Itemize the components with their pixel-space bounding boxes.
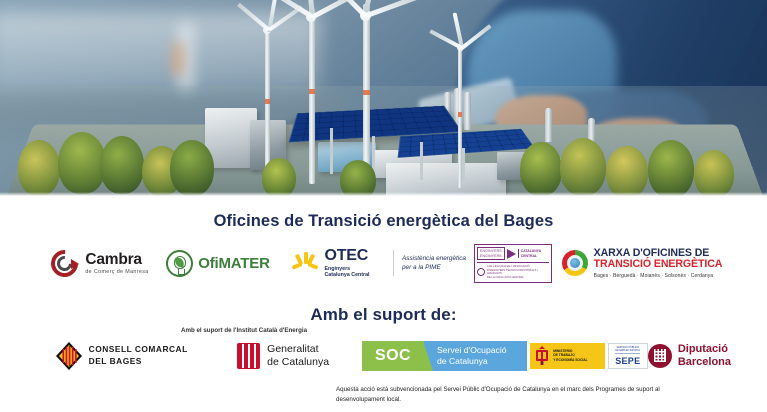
hero-stack-4: [545, 108, 552, 142]
logo-cambra[interactable]: Cambra de Comerç de Manresa: [41, 250, 159, 277]
otec-line1: Enginyers: [324, 266, 369, 273]
ofimater-name: OfiMATER: [198, 255, 269, 272]
logo-xarxa-oficines[interactable]: XARXA D'OFICINES DE TRANSICIÓ ENERGÈTICA…: [558, 248, 726, 279]
xarxa-line2: TRANSICIÓ ENERGÈTICA: [594, 259, 723, 270]
cambra-c-icon: [51, 250, 78, 277]
page-root: Oficines de Transició energètica del Bag…: [0, 0, 767, 412]
ministerio-text: MINISTERIO DE TRABAJO Y ECONOMÍA SOCIAL: [553, 349, 587, 363]
soc-line2: de Catalunya: [437, 356, 527, 367]
support-logo-row: CONSELL COMARCAL DEL BAGES Generalitat d…: [0, 341, 767, 371]
partner-logo-row: Cambra de Comerç de Manresa OfiMATER OTE…: [0, 244, 767, 283]
funding-disclaimer: Aquesta acció està subvencionada pel Ser…: [336, 385, 676, 405]
hero-tree-10: [606, 146, 648, 196]
diputacio-text: Diputació Barcelona: [678, 343, 731, 369]
generalitat-text: Generalitat de Catalunya: [267, 343, 329, 368]
hero-photo: [0, 0, 767, 196]
soc-name-block: Servei d'Ocupació de Catalunya: [424, 341, 527, 371]
logo-otec[interactable]: OTEC Enginyers Catalunya Central: [277, 248, 385, 279]
hero-tree-7: [340, 160, 376, 196]
xarxa-recycle-icon: [562, 250, 588, 276]
offices-title: Oficines de Transició energètica del Bag…: [0, 212, 767, 231]
soc-line1: Servei d'Ocupació: [437, 345, 527, 356]
diputacio-line1: Diputació: [678, 343, 731, 356]
otec-text: OTEC Enginyers Catalunya Central: [324, 248, 369, 279]
cambra-text: Cambra de Comerç de Manresa: [85, 252, 148, 276]
otec-divider: [393, 250, 394, 276]
consell-comarcal-line2: DEL BAGES: [89, 356, 188, 367]
logo-ofimater[interactable]: OfiMATER: [159, 250, 277, 277]
consell-comarcal-text: CONSELL COMARCAL DEL BAGES: [89, 344, 188, 367]
logo-enginyers-catalunya-central[interactable]: ENGINYERS ENGINYERS CATALUNYA CENTRAL CO…: [474, 244, 558, 283]
consell-comarcal-shield-icon: [56, 342, 82, 370]
hero-tree-11: [648, 140, 694, 196]
hero-banner: [0, 0, 767, 196]
support-title: Amb el suport de:: [0, 305, 767, 325]
logo-soc[interactable]: SOC Servei d'Ocupació de Catalunya: [359, 341, 530, 371]
consell-comarcal-line1: CONSELL COMARCAL: [89, 344, 188, 355]
ministerio-block: MINISTERIO DE TRABAJO Y ECONOMÍA SOCIAL: [530, 343, 605, 369]
logo-ministerio-sepe[interactable]: MINISTERIO DE TRABAJO Y ECONOMÍA SOCIAL …: [530, 343, 648, 369]
otec-claim-line2: per a la PIME: [402, 263, 474, 272]
hero-blur-light-warm: [172, 42, 184, 76]
diputacio-line2: Barcelona: [678, 356, 731, 369]
sepe-subtitle-line2: DE EMPLEO ESTATAL: [615, 349, 640, 352]
enginyers-triangle-icon: [507, 249, 516, 259]
otec-sun-icon: [292, 252, 318, 274]
enginyers-badge-line2: ENGINYERS: [480, 254, 502, 259]
ice-support-note: Amb el suport de l'Institut Català d'Ene…: [181, 327, 307, 334]
xarxa-regions: Bages · Berguedà · Moianès · Solsonès · …: [594, 273, 723, 279]
sepe-acronym: SEPE: [615, 356, 640, 366]
ministerio-line3: Y ECONOMÍA SOCIAL: [553, 358, 587, 363]
hero-tree-3: [100, 136, 144, 194]
generalitat-line2: de Catalunya: [267, 356, 329, 369]
logo-consell-comarcal-bages[interactable]: CONSELL COMARCAL DEL BAGES: [36, 342, 207, 370]
enginyers-region-line2: CENTRAL: [521, 254, 541, 258]
otec-name: OTEC: [324, 248, 369, 264]
diputacio-emblem-icon: [648, 344, 672, 368]
spain-coat-of-arms-icon: [534, 346, 550, 365]
enginyers-badge-line1: ENGINYERS: [480, 249, 502, 254]
generalitat-senyera-icon: [237, 343, 260, 369]
hero-tree-9: [560, 138, 606, 196]
ofimater-bulb-leaf-icon: [166, 250, 193, 277]
hero-tree-2: [58, 132, 106, 194]
hero-tree-6: [262, 158, 296, 196]
logo-diputacio-barcelona[interactable]: Diputació Barcelona: [648, 343, 731, 369]
hero-bottom-fade: [0, 192, 767, 196]
enginyers-footer-line3: DE LA CATALUNYA CENTRAL: [487, 276, 549, 280]
otec-line2: Catalunya Central: [324, 272, 369, 279]
sepe-subtitle: SERVICIO PÚBLICO DE EMPLEO ESTATAL: [615, 346, 640, 354]
generalitat-line1: Generalitat: [267, 343, 329, 356]
otec-claim: Assistència energètica per a la PIME: [402, 254, 474, 273]
otec-claim-line1: Assistència energètica: [402, 254, 474, 263]
sepe-block: SERVICIO PÚBLICO DE EMPLEO ESTATAL SEPE: [608, 343, 648, 369]
hero-tree-12: [694, 150, 734, 196]
hero-tree-5: [170, 140, 214, 196]
soc-acronym-block: SOC: [362, 341, 424, 371]
cambra-subtitle: de Comerç de Manresa: [85, 269, 148, 275]
logo-generalitat-catalunya[interactable]: Generalitat de Catalunya: [207, 343, 358, 369]
xarxa-text: XARXA D'OFICINES DE TRANSICIÓ ENERGÈTICA…: [594, 248, 723, 279]
hero-tree-1: [18, 140, 60, 196]
enginyers-seal-icon: [477, 268, 485, 276]
enginyers-region-line1: CATALUNYA: [521, 249, 541, 253]
cambra-name: Cambra: [85, 252, 148, 268]
soc-acronym: SOC: [375, 347, 411, 365]
hero-wind-turbine-4: [420, 38, 500, 188]
hero-tree-8: [520, 142, 562, 196]
